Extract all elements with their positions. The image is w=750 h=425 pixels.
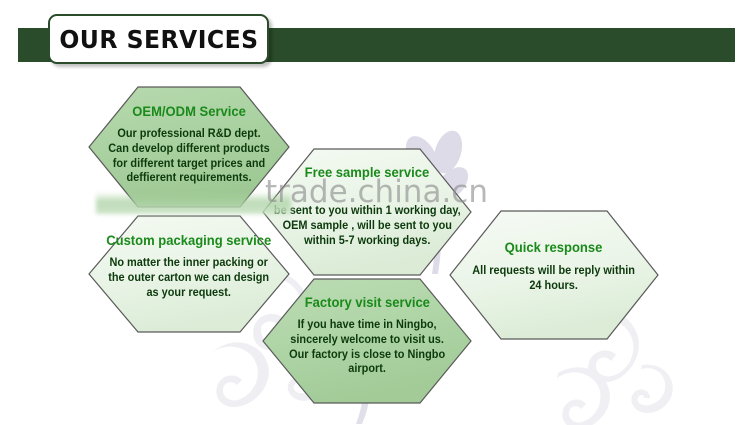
services-infographic: OUR SERVICES OEM/ODM Service Our profess…	[0, 0, 750, 425]
service-title-factory-visit: Factory visit service	[304, 294, 429, 310]
service-body-oem: Our professional R&D dept. Can develop d…	[108, 127, 269, 186]
page-title-box: OUR SERVICES	[48, 14, 269, 64]
service-hexagon-oem[interactable]: OEM/ODM Service Our professional R&D dep…	[88, 86, 290, 208]
service-hexagon-quick-response[interactable]: Quick response All requests will be repl…	[449, 210, 659, 340]
service-body-quick-response: All requests will be reply within 24 hou…	[473, 264, 636, 293]
service-hexagon-factory-visit[interactable]: Factory visit service If you have time i…	[262, 278, 472, 404]
service-body-free-sample: be sent to you within 1 working day, OEM…	[274, 204, 461, 248]
service-title-oem: OEM/ODM Service	[132, 103, 246, 119]
page-title: OUR SERVICES	[59, 25, 258, 54]
service-hexagon-custom-packaging[interactable]: Custom packaging service No matter the i…	[88, 215, 290, 333]
service-title-free-sample: Free sample service	[305, 164, 430, 180]
service-body-factory-visit: If you have time in Ningbo, sincerely we…	[289, 318, 445, 377]
service-title-quick-response: Quick response	[505, 239, 603, 255]
service-hexagon-free-sample[interactable]: Free sample service be sent to you withi…	[262, 148, 472, 276]
service-title-custom-packaging: Custom packaging service	[107, 232, 272, 248]
service-body-custom-packaging: No matter the inner packing or the outer…	[109, 256, 270, 300]
